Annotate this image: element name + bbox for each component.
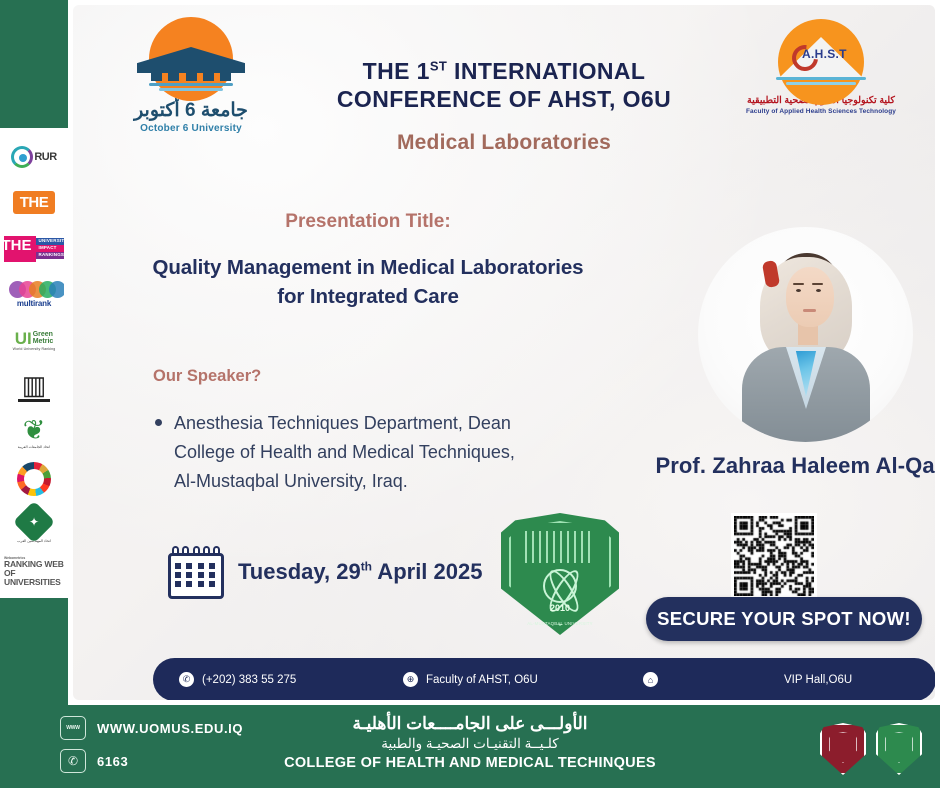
temple-base-icon [18, 399, 50, 402]
u-multirank-badge: multirank [4, 272, 64, 317]
arab-universities-badge: ❦ اتحاد الجامعات العربية [4, 411, 64, 456]
conference-title: THE 1ST INTERNATIONAL CONFERENCE OF AHST… [73, 57, 935, 113]
contact-organizer: ⊕ Faculty of AHST, O6U [403, 672, 643, 687]
presentation-title-line1: Quality Management in Medical Laboratori… [153, 256, 584, 279]
presentation-title-line2: for Integrated Care [277, 285, 459, 308]
greenmetric-word2: Metric [33, 338, 54, 346]
impact-line1: UNIVERSITY [36, 238, 65, 245]
speaker-name: Prof. Zahraa Haleem Al-Qaim [618, 453, 935, 479]
location-icon: ⌂ [643, 672, 658, 687]
speaker-bio-line3: Al-Mustaqbal University, Iraq. [174, 471, 408, 491]
poster-card: جامعة 6 أكتوبر October 6 University A.H.… [68, 0, 940, 705]
rankings-sidebar: RUR THE THE UNIVERSITY IMPACT RANKINGS [0, 128, 68, 598]
shield-red-icon [820, 723, 866, 775]
ranking-web-line2: OF UNIVERSITIES [4, 569, 64, 587]
federation-emblem-icon: ✦ [13, 503, 55, 544]
al-mustaqbal-university-seal: 2010 AL-MUSTAQBAL UNIVERSITY [501, 513, 619, 635]
poster-footer: WWW WWW.UOMUS.EDU.IQ ✆ 6163 الأولـــى عل… [0, 705, 940, 788]
contact-phone[interactable]: ✆ (+202) 383 55 275 [153, 672, 403, 687]
contact-phone-text: (+202) 383 55 275 [202, 674, 296, 686]
seal-year: 2010 [501, 603, 619, 613]
rur-globe-icon [11, 146, 33, 168]
sdg-goals-badge [4, 457, 64, 502]
greenmetric-ui-label: UI [15, 331, 32, 346]
conference-poster: RUR THE THE UNIVERSITY IMPACT RANKINGS [0, 0, 940, 788]
contact-organizer-text: Faculty of AHST, O6U [426, 674, 538, 686]
conference-title-ordinal: ST [430, 58, 447, 73]
arab-universities-sub: اتحاد الجامعات العربية [18, 445, 50, 449]
ranking-web-badge: Webometrics RANKING WEB OF UNIVERSITIES [4, 549, 64, 594]
contact-venue-text: VIP Hall,O6U [784, 674, 852, 686]
ui-greenmetric-badge: UI Green Metric World University Ranking [4, 318, 64, 363]
shield-green-icon [876, 723, 922, 775]
qr-code[interactable] [731, 513, 817, 599]
event-date: Tuesday, 29th April 2025 [238, 559, 482, 585]
the-impact-label: THE [4, 236, 36, 262]
footer-arabic-line2: كلـيــة التقنيـات الصحيـة والطبية [0, 736, 940, 752]
federation-arab-engineers-badge: ✦ اتحاد المهندسين العرب [4, 503, 64, 548]
phone-icon: ✆ [179, 672, 194, 687]
speaker-label: Our Speaker? [153, 367, 261, 386]
conference-subtitle: Medical Laboratories [73, 131, 935, 155]
speaker-bio-line1: Anesthesia Techniques Department, Dean [174, 413, 511, 433]
footer-institution: الأولـــى على الجامــــعات الأهليـة كلـي… [0, 714, 940, 771]
conference-title-line1-start: THE 1 [363, 58, 430, 84]
bullet-icon [155, 419, 162, 426]
speaker-bio: Anesthesia Techniques Department, Dean C… [155, 409, 605, 496]
contact-bar: ✆ (+202) 383 55 275 ⊕ Faculty of AHST, O… [153, 658, 935, 700]
wreath-icon: ❦ [23, 417, 46, 444]
sdg-wheel-icon [17, 462, 51, 496]
contact-venue: ⌂ VIP Hall,O6U [643, 672, 913, 687]
event-date-main: Tuesday, 29 [238, 559, 361, 584]
footer-arabic-line1: الأولـــى على الجامــــعات الأهليـة [0, 714, 940, 734]
event-date-rest: April 2025 [372, 559, 482, 584]
seal-arc-text: AL-MUSTAQBAL UNIVERSITY [501, 621, 619, 626]
impact-line2: IMPACT [36, 245, 65, 252]
conference-title-line1-end: INTERNATIONAL [447, 58, 645, 84]
rur-label: RUR [34, 151, 56, 163]
secure-spot-button[interactable]: SECURE YOUR SPOT NOW! [646, 597, 922, 641]
presentation-title: Quality Management in Medical Laboratori… [93, 253, 643, 311]
the-badge: THE [4, 180, 64, 225]
temple-icon: ▥ [22, 372, 47, 398]
calendar-icon [168, 545, 224, 599]
presentation-title-label: Presentation Title: [133, 211, 603, 233]
temple-badge: ▥ [4, 364, 64, 409]
greenmetric-word1: Green [33, 331, 54, 339]
the-label: THE [13, 191, 56, 214]
poster-card-inner: جامعة 6 أكتوبر October 6 University A.H.… [73, 5, 935, 700]
event-date-row: Tuesday, 29th April 2025 [168, 545, 482, 599]
multirank-circles-icon [9, 281, 59, 298]
impact-line3: RANKINGS [36, 252, 65, 259]
speaker-bio-line2: College of Health and Medical Techniques… [174, 442, 515, 462]
event-date-ordinal: th [361, 560, 372, 574]
footer-shield-logos [820, 723, 922, 775]
conference-title-line2: CONFERENCE OF AHST, O6U [337, 86, 671, 112]
speaker-portrait [698, 227, 913, 442]
greenmetric-sub: World University Ranking [13, 347, 56, 351]
rur-badge: RUR [4, 134, 64, 179]
the-impact-rankings-badge: THE UNIVERSITY IMPACT RANKINGS [4, 226, 64, 271]
footer-english-name: COLLEGE OF HEALTH AND MEDICAL TECHINQUES [0, 755, 940, 771]
multirank-label: multirank [17, 299, 51, 308]
globe-icon: ⊕ [403, 672, 418, 687]
